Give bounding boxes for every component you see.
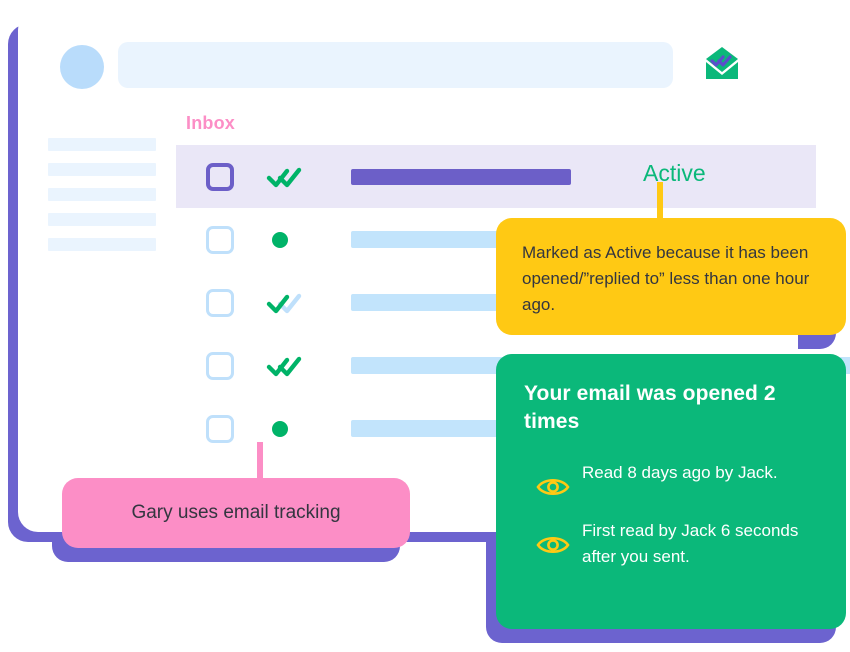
row-checkbox[interactable]: [206, 352, 234, 380]
dot-green-icon: [272, 232, 288, 248]
sidebar-item-4[interactable]: [48, 213, 156, 226]
page-title: Inbox: [186, 113, 235, 134]
row-checkbox[interactable]: [206, 289, 234, 317]
active-explanation-text: Marked as Active because it has been ope…: [522, 240, 820, 318]
gary-tracking-tooltip: Gary uses email tracking: [62, 478, 410, 548]
illustration-canvas: Inbox: [0, 0, 850, 652]
eye-icon: [524, 518, 582, 556]
row-checkbox[interactable]: [206, 415, 234, 443]
list-item: Read 8 days ago by Jack.: [524, 460, 822, 498]
search-input[interactable]: [118, 42, 673, 88]
row-checkbox[interactable]: [206, 226, 234, 254]
gary-callout-connector: [257, 442, 263, 482]
email-opens-title: Your email was opened 2 times: [524, 380, 822, 436]
table-row[interactable]: [176, 145, 816, 208]
gary-tracking-text: Gary uses email tracking: [131, 502, 340, 524]
subject-bar: [351, 169, 571, 185]
sidebar-item-5[interactable]: [48, 238, 156, 251]
open-event-text: Read 8 days ago by Jack.: [582, 460, 778, 486]
row-checkbox[interactable]: [206, 163, 234, 191]
double-check-half-read-icon: [266, 288, 306, 318]
list-item: First read by Jack 6 seconds after you s…: [524, 518, 822, 570]
sidebar-item-1[interactable]: [48, 138, 156, 151]
status-badge: Active: [643, 160, 706, 187]
open-envelope-double-check-icon: [700, 42, 744, 86]
avatar[interactable]: [60, 45, 104, 89]
active-callout-connector: [657, 182, 663, 222]
email-opens-tooltip: Your email was opened 2 times Read 8 day…: [496, 354, 846, 629]
active-explanation-tooltip: Marked as Active because it has been ope…: [496, 218, 846, 335]
sidebar-item-2[interactable]: [48, 163, 156, 176]
sidebar-item-3[interactable]: [48, 188, 156, 201]
sidebar: [48, 138, 156, 263]
double-check-green-icon: [266, 351, 306, 381]
eye-icon: [524, 460, 582, 498]
dot-green-icon: [272, 421, 288, 437]
open-event-text: First read by Jack 6 seconds after you s…: [582, 518, 817, 570]
double-check-green-icon: [266, 162, 306, 192]
